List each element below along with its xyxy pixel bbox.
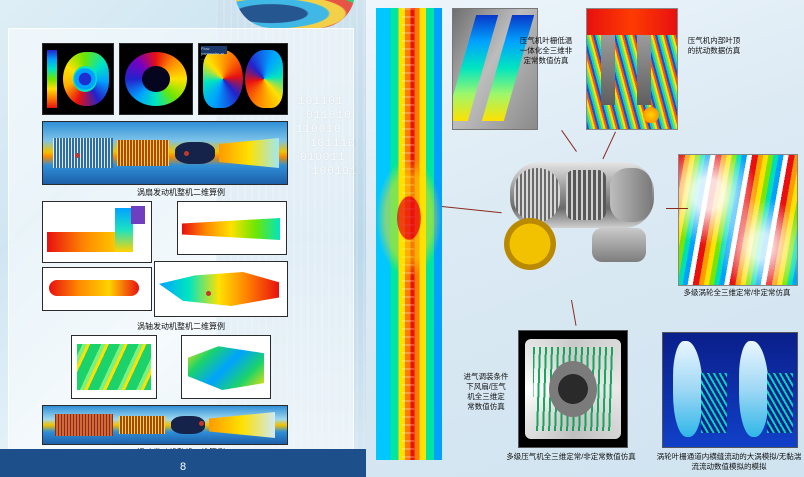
figure-blade-temperature-contour (42, 43, 114, 115)
schematic-turboshaft-cross-section (154, 261, 288, 317)
right-slide: 压气机叶栅低温 一体化全三维非 定常数值仿真 压气机内部叶顶 的扰动数据仿真 多… (366, 0, 804, 477)
caption-compressor-cascade: 压气机叶栅低温 一体化全三维非 定常数值仿真 (516, 36, 576, 66)
figure-diffuser-contour (177, 201, 287, 255)
caption-turbofan-2d: 涡扇发动机整机二维算例 (9, 187, 353, 198)
left-slide: 101101 011010 110010 101110 010011 10010… (0, 0, 366, 477)
slide-pair-screenshot: 101101 011010 110010 101110 010011 10010… (0, 0, 804, 477)
leader-line-5 (442, 206, 502, 213)
caption-turbine-les: 涡轮叶栅通道内横缝流动的大涡模拟/无黏湍流流动数值模拟的模拟 (654, 452, 804, 472)
slide-page-number: 8 (0, 461, 366, 473)
leader-line-4 (571, 300, 576, 326)
leader-dot-1 (75, 153, 80, 158)
schematic-turbojet-cross-section (42, 405, 288, 445)
tile-engine-cutaway-3d-model (496, 142, 666, 292)
caption-turboshaft-2d: 涡轴发动机整机二维算例 (9, 321, 353, 332)
left-slide-content: Flow parameter at ... m 涡扇发动机整机二维算例 (8, 28, 354, 450)
tile-turbine-les (662, 332, 798, 448)
caption-full-annulus-unsteady: 多级压气机全三维定常/非定常数值仿真 (496, 452, 646, 462)
caption-inlet-fan-compressor: 进气调装条件 下风扇/压气 机全三维定 常数值仿真 (458, 372, 514, 412)
tile-compressor-tip-vortex (586, 8, 678, 130)
leader-dot-3 (206, 291, 211, 296)
figure-s-duct-contour (42, 267, 152, 311)
figure-inlet-duct-contour (42, 201, 152, 263)
figure-axial-fan-contour (119, 43, 193, 115)
tile-large-rainbow-contour-strip (376, 8, 442, 460)
tile-compressor-cascade (452, 8, 538, 130)
caption-compressor-tip-vortex: 压气机内部叶顶 的扰动数据仿真 (684, 36, 744, 56)
leader-line-3 (666, 208, 688, 209)
tile-turbine-unsteady (678, 154, 798, 286)
tile-inlet-fan-compressor (518, 330, 628, 448)
figure-combustor-wave-contour (71, 335, 157, 399)
leader-dot-4 (199, 421, 204, 426)
figure-nozzle-contour (181, 335, 271, 399)
leader-dot-2 (184, 151, 189, 156)
figure-rotor-mach-contour: Flow parameter at ... m (198, 43, 288, 115)
figure-inset-label: Flow parameter at ... m (201, 46, 227, 54)
caption-turbine-unsteady: 多级涡轮全三维定常/非定常仿真 (672, 288, 802, 298)
